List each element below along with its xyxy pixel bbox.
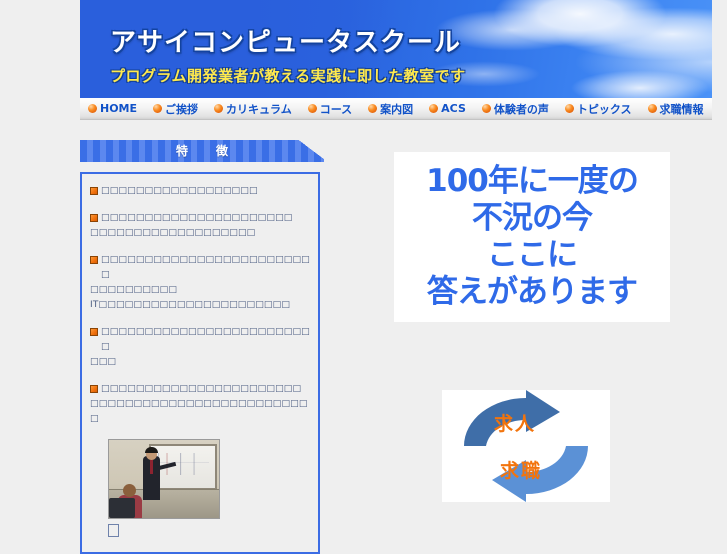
nav-label: HOME (100, 102, 137, 115)
orange-ball-icon (648, 104, 657, 113)
feature-line-with-bullet: □□□□□□□□□□□□□□□□□□□□□□□ (90, 382, 310, 397)
content-area: 特徴 □□□□□□□□□□□□□□□□□□ □□□□□□□□□□□□□□□□□□… (80, 120, 712, 545)
nav-item-greeting[interactable]: ご挨拶 (153, 101, 198, 117)
feature-text: IT□□□□□□□□□□□□□□□□□□□□□□ (90, 298, 310, 313)
orange-ball-icon (565, 104, 574, 113)
feature-text: □□□□□□□□□□□□□□□□□□□□□□□□□□ (90, 397, 310, 427)
section-heading-bar: 特徴 (80, 140, 324, 162)
job-cycle-graphic: 求人 求職 (442, 390, 610, 502)
feature-item: □□□□□□□□□□□□□□□□□□□□□□ □□□□□□□□□□□□□□□□□… (90, 211, 310, 241)
feature-item: □□□□□□□□□□□□□□□□□□ (90, 184, 310, 199)
nav-label: カリキュラム (226, 101, 292, 117)
feature-item: □□□□□□□□□□□□□□□□□□□□□□□□□ □□□ (90, 325, 310, 370)
orange-square-bullet-icon (90, 187, 98, 195)
feature-item: □□□□□□□□□□□□□□□□□□□□□□□□□ □□□□□□□□□□ IT□… (90, 253, 310, 313)
feature-text: □□□□□□□□□□□□□□□□□□□ (90, 226, 310, 241)
main-navigation[interactable]: HOME ご挨拶 カリキュラム コース 案内図 ACS 体験者の声 トピックス (80, 98, 712, 120)
promo-line: ここに (487, 237, 577, 274)
feature-text: □□□□□□□□□□□□□□□□□□□□□□□□□ (101, 253, 310, 283)
features-box: □□□□□□□□□□□□□□□□□□ □□□□□□□□□□□□□□□□□□□□□… (80, 172, 320, 554)
feature-line-with-bullet: □□□□□□□□□□□□□□□□□□□□□□□□□ (90, 325, 310, 355)
orange-ball-icon (88, 104, 97, 113)
feature-text: □□□□□□□□□□□□□□□□□□□□□□□ (101, 382, 301, 397)
nav-item-home[interactable]: HOME (88, 102, 137, 115)
orange-ball-icon (153, 104, 162, 113)
promo-banner[interactable]: 100年に一度の 不況の今 ここに 答えがあります (394, 152, 670, 322)
photo-student-head (123, 484, 136, 497)
nav-item-job-info[interactable]: 求職情報 (648, 101, 704, 117)
page-container: アサイコンピュータスクール プログラム開発業者が教える実践に即した教室です HO… (80, 0, 712, 545)
orange-square-bullet-icon (90, 328, 98, 336)
section-heading-label: 特徴 (80, 140, 324, 162)
nav-label: トピックス (577, 101, 632, 117)
nav-item-acs[interactable]: ACS (429, 102, 466, 115)
orange-ball-icon (368, 104, 377, 113)
orange-ball-icon (482, 104, 491, 113)
feature-text: □□□□□□□□□□□□□□□□□□□□□□□□□ (101, 325, 310, 355)
orange-ball-icon (429, 104, 438, 113)
nav-label: ACS (441, 102, 466, 115)
left-column: 特徴 □□□□□□□□□□□□□□□□□□ □□□□□□□□□□□□□□□□□□… (80, 120, 330, 554)
banner-text-group: アサイコンピュータスクール プログラム開発業者が教える実践に即した教室です (110, 22, 466, 86)
nav-item-testimonials[interactable]: 体験者の声 (482, 101, 549, 117)
cycle-label-bottom: 求職 (500, 456, 542, 483)
nav-label: コース (320, 101, 352, 117)
photo-instructor-tie (150, 460, 153, 474)
site-banner: アサイコンピュータスクール プログラム開発業者が教える実践に即した教室です (80, 0, 712, 98)
promo-line: 100年に一度の (426, 163, 638, 200)
cycle-label-top: 求人 (494, 409, 536, 436)
feature-text: □□□□□□□□□□□□□□□□□□ (101, 184, 258, 199)
orange-square-bullet-icon (90, 214, 98, 222)
orange-square-bullet-icon (90, 256, 98, 264)
photo-instructor-hair (145, 447, 158, 453)
site-title: アサイコンピュータスクール (110, 22, 466, 59)
photo-caption (108, 524, 119, 537)
feature-item: □□□□□□□□□□□□□□□□□□□□□□□ □□□□□□□□□□□□□□□□… (90, 382, 310, 427)
nav-label: ご挨拶 (165, 101, 198, 117)
orange-ball-icon (308, 104, 317, 113)
nav-item-topics[interactable]: トピックス (565, 101, 632, 117)
photo-monitor (109, 498, 135, 518)
nav-item-curriculum[interactable]: カリキュラム (214, 101, 292, 117)
feature-line-with-bullet: □□□□□□□□□□□□□□□□□□□□□□ (90, 211, 310, 226)
nav-item-map[interactable]: 案内図 (368, 101, 413, 117)
nav-label: 求職情報 (660, 101, 704, 117)
nav-label: 体験者の声 (494, 101, 549, 117)
promo-line: 答えがあります (427, 274, 637, 311)
nav-label: 案内図 (380, 101, 413, 117)
feature-text: □□□ (90, 355, 310, 370)
nav-item-course[interactable]: コース (308, 101, 352, 117)
feature-text: □□□□□□□□□□ (90, 283, 310, 298)
orange-ball-icon (214, 104, 223, 113)
cycle-arrows-icon (442, 390, 610, 502)
classroom-photo (108, 439, 220, 519)
site-tagline: プログラム開発業者が教える実践に即した教室です (110, 65, 466, 86)
feature-line-with-bullet: □□□□□□□□□□□□□□□□□□ (90, 184, 310, 199)
feature-line-with-bullet: □□□□□□□□□□□□□□□□□□□□□□□□□ (90, 253, 310, 283)
promo-line: 不況の今 (472, 200, 592, 237)
feature-text: □□□□□□□□□□□□□□□□□□□□□□ (101, 211, 292, 226)
orange-square-bullet-icon (90, 385, 98, 393)
